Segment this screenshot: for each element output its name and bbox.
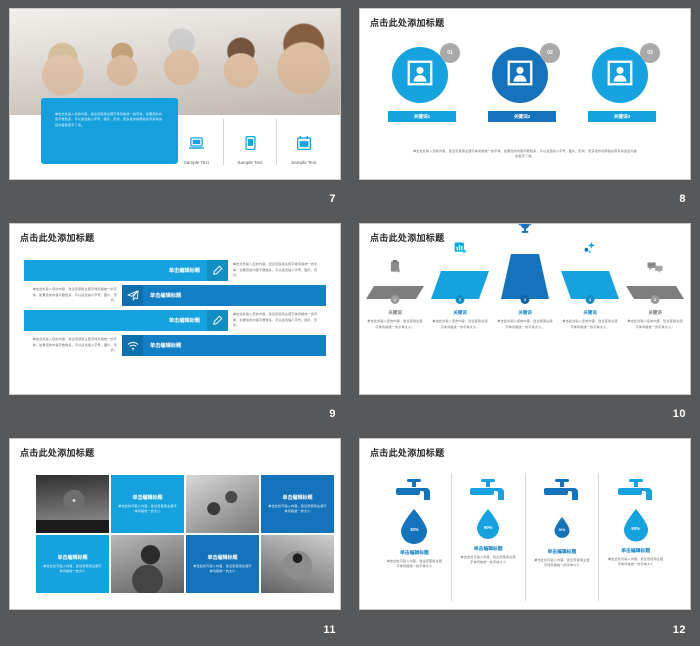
bar-body-text: 单击此处输入您的内容，建议您使用主题字体风格统一的字体，如果您的内容字数较多，可… — [24, 335, 122, 356]
faucet-description: 单击此处可输入内容，建议您使用主题字体风格统一的字体大小 — [608, 557, 664, 568]
circle-item-2[interactable]: 02 关键词2 — [488, 47, 562, 139]
step-badge: 01 — [440, 43, 460, 63]
faucet-stat-row: 30% 单击编辑标题 单击此处可输入内容，建议您使用主题字体风格统一的字体大小 … — [378, 473, 672, 601]
meeting-table-photo[interactable] — [186, 475, 259, 533]
bar-heading: 单击编辑标题 — [24, 267, 207, 274]
feature-item-tablet[interactable]: Sample Text — [223, 119, 277, 165]
tile-heading: 单击编辑标题 — [57, 554, 87, 561]
lightbulb-icon — [584, 241, 597, 259]
faucet-description: 单击此处可输入内容，建议您使用主题字体风格统一的字体大小 — [460, 555, 516, 566]
step-number: 1 — [391, 295, 400, 304]
circle-item-row: 01 关键词1 02 关键词2 — [360, 47, 690, 139]
slide-caption: 单击此处输入您的内容，建议您使用主题字体风格统一的字体，如果您的内容字数较多，可… — [412, 149, 638, 160]
feature-label: Sample Text — [184, 160, 209, 165]
step-badge: 02 — [540, 43, 560, 63]
chat-bubbles-icon — [648, 260, 663, 278]
laptop-icon — [189, 137, 204, 155]
grid-text-tile[interactable]: 单击编辑标题 单击此处可输入内容，建议您使用主题字体风格统一的大小 — [111, 475, 184, 533]
step-description: 单击此处输入您的内容，建议使用主题字体风格统一的字体大小。 — [496, 319, 554, 330]
bar-heading: 单击编辑标题 — [143, 292, 326, 299]
slide-cell-11: 点击此处添加标题 单击编辑标题 单击此处可输入内容，建议您使用主题字体风格统一的… — [0, 430, 350, 646]
feature-bar-row[interactable]: 单击编辑标题 单击此处输入您的内容，建议您使用主题字体风格统一的字体，如果您的内… — [24, 310, 326, 331]
step-shape-row: 1 关键词 单击此处输入您的内容，建议使用主题字体风格统一的字体大小。 2 — [360, 258, 690, 330]
slide-7[interactable]: 单击此处输入您的内容，建议您使用主题字体风格统一的字体，如果您的内容字数较多，可… — [9, 8, 341, 180]
tile-body: 单击此处可输入内容，建议您使用主题字体风格统一的大小 — [43, 564, 102, 575]
page-number: 11 — [323, 624, 336, 636]
percent-value: 30% — [410, 527, 418, 532]
slide-9[interactable]: 点击此处添加标题 单击编辑标题 单击此处输入您的内容，建议您使用主题字体风格统一… — [9, 223, 341, 395]
feature-bar[interactable]: 单击编辑标题 — [122, 285, 326, 306]
clipboard-icon — [390, 260, 401, 278]
tile-heading: 单击编辑标题 — [207, 554, 237, 561]
step-number: 3 — [521, 295, 530, 304]
feature-item-calendar[interactable]: Sample Text — [276, 119, 330, 165]
icon-feature-row: Sample Text Sample Text Sample Text — [170, 119, 330, 165]
user-frame-icon — [407, 60, 433, 91]
tile-body: 单击此处可输入内容，建议您使用主题字体风格统一的大小 — [193, 564, 252, 575]
calendar-icon — [297, 136, 311, 155]
water-drop-shape: 60% — [475, 508, 501, 540]
percent-value: 20% — [558, 528, 565, 532]
slide-10[interactable]: 点击此处添加标题 1 关键词 单击此处输入您的内容，建议使用主题字体风格统一的字… — [359, 223, 691, 395]
page-title: 点击此处添加标题 — [10, 439, 340, 459]
trophy-icon — [519, 223, 532, 239]
bar-chart-icon — [454, 241, 466, 259]
feature-bar-row[interactable]: 单击编辑标题 单击此处输入您的内容，建议您使用主题字体风格统一的字体，如果您的内… — [24, 260, 326, 281]
step-badge: 03 — [640, 43, 660, 63]
step-shape: 3 — [496, 254, 554, 299]
step-keyword: 关键词 — [518, 310, 531, 316]
faucet-column-2[interactable]: 60% 单击编辑标题 单击此处可输入内容，建议您使用主题字体风格统一的字体大小 — [451, 473, 525, 601]
step-column-1[interactable]: 1 关键词 单击此处输入您的内容，建议使用主题字体风格统一的字体大小。 — [364, 286, 426, 330]
photo-text-grid: 单击编辑标题 单击此处可输入内容，建议您使用主题字体风格统一的大小 单击编辑标题… — [36, 475, 334, 593]
step-description: 单击此处输入您的内容，建议使用主题字体风格统一的字体大小。 — [431, 319, 489, 330]
slide-cell-8: 点击此处添加标题 01 关键词1 — [350, 0, 700, 215]
bar-body-text: 单击此处输入您的内容，建议您使用主题字体风格统一的字体，如果您的内容字数较多，可… — [24, 285, 122, 306]
faucet-heading: 单击编辑标题 — [474, 545, 503, 552]
keyword-label[interactable]: 关键词1 — [388, 111, 456, 122]
ferris-wheel-photo[interactable] — [36, 475, 109, 533]
step-column-4[interactable]: 4 关键词 单击此处输入您的内容，建议使用主题字体风格统一的字体大小。 — [559, 271, 621, 330]
grid-text-tile[interactable]: 单击编辑标题 单击此处可输入内容，建议您使用主题字体风格统一的大小 — [36, 535, 109, 593]
intro-text-card[interactable]: 单击此处输入您的内容，建议您使用主题字体风格统一的字体，如果您的内容字数较多，可… — [41, 98, 178, 164]
man-watch-photo[interactable] — [111, 535, 184, 593]
faucet-column-4[interactable]: 50% 单击编辑标题 单击此处可输入内容，建议您使用主题字体风格统一的字体大小 — [598, 473, 672, 601]
keyword-label[interactable]: 关键词2 — [488, 111, 556, 122]
feature-bar[interactable]: 单击编辑标题 — [24, 310, 228, 331]
step-description: 单击此处输入您的内容，建议使用主题字体风格统一的字体大小。 — [626, 319, 684, 330]
percent-value: 50% — [631, 526, 639, 531]
faucet-heading: 单击编辑标题 — [621, 547, 650, 554]
faucet-icon — [542, 479, 582, 512]
step-number: 4 — [586, 295, 595, 304]
faucet-heading: 单击编辑标题 — [400, 549, 429, 556]
step-shape: 4 — [561, 271, 619, 299]
feature-bar[interactable]: 单击编辑标题 — [122, 335, 326, 356]
page-title: 点击此处添加标题 — [10, 224, 340, 244]
feature-label: Sample Text — [291, 160, 316, 165]
feature-label: Sample Text — [237, 160, 262, 165]
slide-cell-7: 单击此处输入您的内容，建议您使用主题字体风格统一的字体，如果您的内容字数较多，可… — [0, 0, 350, 215]
tile-body: 单击此处可输入内容，建议您使用主题字体风格统一的大小 — [118, 504, 177, 515]
slide-thumbnail-grid: 单击此处输入您的内容，建议您使用主题字体风格统一的字体，如果您的内容字数较多，可… — [0, 0, 700, 646]
slide-cell-10: 点击此处添加标题 1 关键词 单击此处输入您的内容，建议使用主题字体风格统一的字… — [350, 215, 700, 430]
step-keyword: 关键词 — [388, 310, 401, 316]
page-number: 7 — [329, 193, 336, 205]
water-drop-shape: 50% — [622, 508, 650, 542]
pencil-icon — [207, 260, 228, 281]
grid-text-tile[interactable]: 单击编辑标题 单击此处可输入内容，建议您使用主题字体风格统一的大小 — [186, 535, 259, 593]
circle-item-3[interactable]: 03 关键词3 — [588, 47, 662, 139]
faucet-heading: 单击编辑标题 — [547, 548, 576, 555]
wifi-icon — [122, 335, 143, 356]
faucet-column-3[interactable]: 20% 单击编辑标题 单击此处可输入内容，建议您使用主题字体风格统一的字体大小 — [525, 473, 599, 601]
page-title: 点击此处添加标题 — [360, 9, 690, 29]
man-glasses-photo[interactable] — [261, 535, 334, 593]
bar-heading: 单击编辑标题 — [24, 317, 207, 324]
faucet-description: 单击此处可输入内容，建议您使用主题字体风格统一的字体大小 — [386, 559, 442, 570]
step-shape: 1 — [366, 286, 424, 299]
user-frame-icon — [607, 60, 633, 91]
slide-8[interactable]: 点击此处添加标题 01 关键词1 — [359, 8, 691, 180]
slide-12[interactable]: 点击此处添加标题 30% 单击编辑标题 单击此处可输入内容，建议您使用主题字体风… — [359, 438, 691, 610]
step-column-2[interactable]: 2 关键词 单击此处输入您的内容，建议使用主题字体风格统一的字体大小。 — [429, 271, 491, 330]
paper-plane-icon — [122, 285, 143, 306]
bar-body-text: 单击此处输入您的内容，建议您使用主题字体风格统一的字体，如果您的内容字数较多，可… — [228, 310, 326, 331]
step-shape: 2 — [431, 271, 489, 299]
step-keyword: 关键词 — [583, 310, 596, 316]
page-number: 10 — [673, 408, 686, 420]
slide-cell-12: 点击此处添加标题 30% 单击编辑标题 单击此处可输入内容，建议您使用主题字体风… — [350, 430, 700, 646]
bar-heading: 单击编辑标题 — [143, 342, 326, 349]
step-number: 5 — [651, 295, 660, 304]
step-description: 单击此处输入您的内容，建议使用主题字体风格统一的字体大小。 — [366, 319, 424, 330]
feature-bar-list: 单击编辑标题 单击此处输入您的内容，建议您使用主题字体风格统一的字体，如果您的内… — [24, 260, 326, 360]
water-drop-shape: 20% — [553, 516, 571, 539]
slide-11[interactable]: 点击此处添加标题 单击编辑标题 单击此处可输入内容，建议您使用主题字体风格统一的… — [9, 438, 341, 610]
step-keyword: 关键词 — [453, 310, 466, 316]
page-number: 9 — [329, 408, 336, 420]
step-column-3[interactable]: 3 关键词 单击此处输入您的内容，建议使用主题字体风格统一的字体大小。 — [494, 254, 556, 330]
slide-cell-9: 点击此处添加标题 单击编辑标题 单击此处输入您的内容，建议您使用主题字体风格统一… — [0, 215, 350, 430]
intro-card-body: 单击此处输入您的内容，建议您使用主题字体风格统一的字体，如果您的内容字数较多，可… — [55, 112, 164, 128]
faucet-column-1[interactable]: 30% 单击编辑标题 单击此处可输入内容，建议您使用主题字体风格统一的字体大小 — [378, 473, 451, 601]
tile-heading: 单击编辑标题 — [132, 494, 162, 501]
feature-bar-row[interactable]: 单击此处输入您的内容，建议您使用主题字体风格统一的字体，如果您的内容字数较多，可… — [24, 335, 326, 356]
bar-body-text: 单击此处输入您的内容，建议您使用主题字体风格统一的字体，如果您的内容字数较多，可… — [228, 260, 326, 281]
pyramid-step-diagram: 1 关键词 单击此处输入您的内容，建议使用主题字体风格统一的字体大小。 2 — [360, 258, 690, 388]
step-description: 单击此处输入您的内容，建议使用主题字体风格统一的字体大小。 — [561, 319, 619, 330]
step-column-5[interactable]: 5 关键词 单击此处输入您的内容，建议使用主题字体风格统一的字体大小。 — [624, 286, 686, 330]
feature-bar[interactable]: 单击编辑标题 — [24, 260, 228, 281]
circle-item-1[interactable]: 01 关键词1 — [388, 47, 462, 139]
pencil-icon — [207, 310, 228, 331]
tablet-icon — [245, 136, 256, 155]
page-number: 8 — [679, 193, 686, 205]
step-keyword: 关键词 — [648, 310, 661, 316]
water-drop-shape: 30% — [399, 508, 429, 544]
percent-value: 60% — [484, 525, 492, 530]
step-number: 2 — [456, 295, 465, 304]
keyword-label[interactable]: 关键词3 — [588, 111, 656, 122]
tile-body: 单击此处可输入内容，建议您使用主题字体风格统一的大小 — [268, 504, 327, 515]
step-shape: 5 — [626, 286, 684, 299]
faucet-description: 单击此处可输入内容，建议您使用主题字体风格统一的字体大小 — [534, 558, 590, 569]
page-number: 12 — [673, 624, 686, 636]
grid-text-tile[interactable]: 单击编辑标题 单击此处可输入内容，建议您使用主题字体风格统一的大小 — [261, 475, 334, 533]
tile-heading: 单击编辑标题 — [282, 494, 312, 501]
feature-bar-row[interactable]: 单击此处输入您的内容，建议您使用主题字体风格统一的字体，如果您的内容字数较多，可… — [24, 285, 326, 306]
user-frame-icon — [507, 60, 533, 91]
page-title: 点击此处添加标题 — [360, 439, 690, 459]
